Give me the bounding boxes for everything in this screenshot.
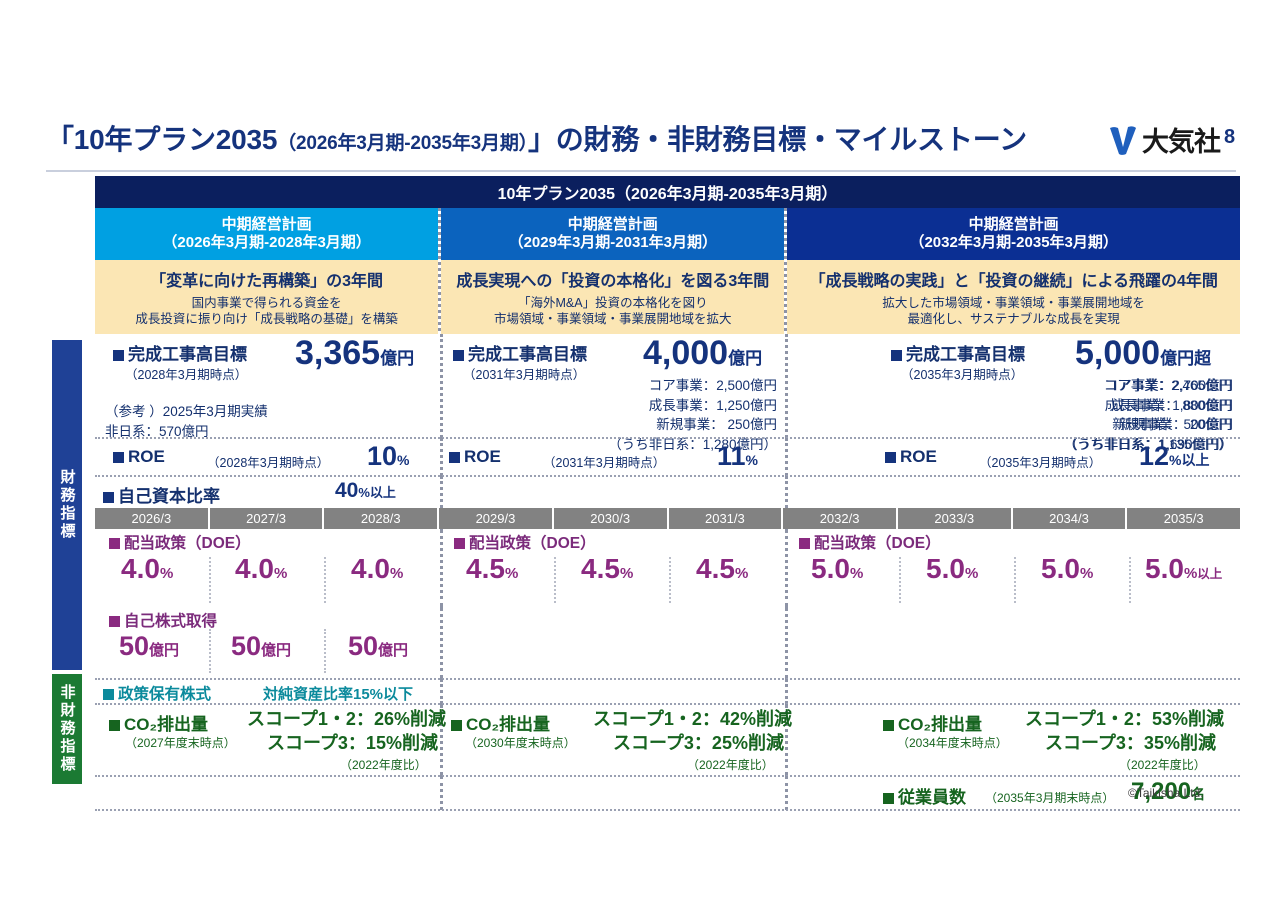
company-name: 大気社	[1142, 120, 1220, 159]
roe-3-value: 12%以上	[1139, 443, 1210, 470]
doe-value-2027: 4.0%	[235, 555, 287, 583]
co2-1-scope12: スコープ1・2：26%削減	[247, 710, 446, 728]
revenue-3-newbiz: 新規事業： 500億円	[975, 415, 1233, 435]
co2-2-baseline: （2022年度比）	[687, 756, 774, 773]
roe-1-as-of: （2028年3月期時点）	[207, 452, 329, 471]
revenue-2-growth: 成長事業：1,250億円	[525, 396, 777, 416]
roe-1-label: ROE	[113, 447, 165, 467]
employees-row: 従業員数 （2035年3月期末時点） 7,200名	[95, 776, 1240, 810]
roadmap-table: 10年プラン2035（2026年3月期-2035年3月期） 中期経営計画 （20…	[95, 176, 1240, 810]
fiscal-year-cell: 2031/3	[669, 508, 784, 529]
roe-3-as-of: （2035年3月期時点）	[979, 452, 1101, 471]
col-divider-2	[785, 476, 788, 508]
roe-3-label: ROE	[885, 447, 937, 467]
equity-ratio-row: 自己資本比率 40%以上	[95, 476, 1240, 508]
year-divider	[1129, 557, 1131, 603]
buyback-row: 自己株式取得 50億円 50億円 50億円	[95, 607, 1240, 679]
doe-row: 配当政策（DOE） 配当政策（DOE） 配当政策（DOE） 4.0% 4.0% …	[95, 529, 1240, 607]
revenue-3-core: コア事業：2,700億円	[975, 376, 1233, 396]
year-divider	[324, 629, 326, 673]
fiscal-year-cell: 2026/3	[95, 508, 210, 529]
bullet-square-icon	[451, 720, 462, 731]
phase-2-header: 中期経営計画 （2029年3月期-2031年3月期）	[441, 208, 784, 260]
phase-3-header: 中期経営計画 （2032年3月期-2035年3月期）	[787, 208, 1240, 260]
phase-1-detail: 国内事業で得られる資金を 成長投資に振り向け「成長戦略の基礎」を構築	[135, 295, 398, 328]
side-label-financial: 財務指標	[52, 340, 82, 670]
doe-value-2034: 5.0%	[1041, 555, 1093, 583]
taikisha-v-mark-icon	[1106, 123, 1140, 157]
phase-1-detail-line2: 成長投資に振り向け「成長戦略の基礎」を構築	[135, 311, 398, 328]
col-divider-1	[440, 679, 443, 704]
revenue-2-label: 完成工事高目標	[453, 340, 587, 365]
doe-value-2030: 4.5%	[581, 555, 633, 583]
bullet-square-icon	[109, 616, 120, 627]
doe-value-2029: 4.5%	[466, 555, 518, 583]
co2-1-label: CO₂排出量	[109, 710, 208, 735]
revenue-target-row: 完成工事高目標 （2028年3月期時点） 3,365億円 コア事業：2,465億…	[95, 334, 1240, 438]
phase-2-plan-label: 中期経営計画	[568, 216, 658, 234]
phase-2-detail: 「海外M&A」投資の本格化を図り 市場領域・事業領域・事業展開地域を拡大	[494, 295, 732, 328]
co2-3-as-of: （2034年度末時点）	[897, 734, 1008, 751]
revenue-3-value: 5,000億円超	[1075, 336, 1211, 370]
employees-as-of: （2035年3月期末時点）	[985, 789, 1114, 806]
co2-1-as-of: （2027年度末時点）	[125, 734, 236, 751]
bullet-square-icon	[113, 452, 124, 463]
fiscal-year-header-row: 2026/3 2027/3 2028/3 2029/3 2030/3 2031/…	[95, 508, 1240, 529]
phase-3-detail-line2: 最適化し、サステナブルな成長を実現	[882, 311, 1145, 328]
co2-1-baseline: （2022年度比）	[340, 756, 427, 773]
policy-shares-row: 政策保有株式 対純資産比率15%以下	[95, 679, 1240, 704]
fiscal-year-cell: 2034/3	[1013, 508, 1128, 529]
revenue-1-value: 3,365億円	[295, 336, 414, 370]
row-divider-employees	[95, 809, 1240, 811]
page-title: 「10年プラン2035（2026年3月期-2035年3月期）」の財務・非財務目標…	[46, 118, 1027, 166]
co2-2-label: CO₂排出量	[451, 710, 550, 735]
co2-2-scope12: スコープ1・2：42%削減	[593, 710, 792, 728]
co2-3-scope12: スコープ1・2：53%削減	[1025, 710, 1224, 728]
col-divider-2	[785, 334, 788, 438]
fiscal-year-cell: 2032/3	[783, 508, 898, 529]
col-divider-2	[785, 438, 788, 476]
phase-1-period: （2026年3月期-2028年3月期）	[162, 234, 370, 252]
phase-1-theme: 「変革に向けた再構築」の3年間	[150, 267, 383, 291]
doe-3-label: 配当政策（DOE）	[799, 531, 941, 553]
phase-2-theme: 成長実現への「投資の本格化」を図る3年間	[456, 267, 769, 291]
roe-2-value: 11%	[717, 443, 758, 470]
side-label-non-financial: 非財務指標	[52, 674, 82, 784]
page-number: 8	[1224, 126, 1235, 149]
bullet-square-icon	[103, 689, 114, 700]
revenue-1-ref-line1: （参考 ）2025年3月期実績	[105, 402, 268, 422]
year-divider	[209, 629, 211, 673]
col-divider-2	[785, 679, 788, 704]
page-title-period: （2026年3月期-2035年3月期）	[277, 133, 528, 154]
co2-row: CO₂排出量 （2027年度末時点） スコープ1・2：26%削減 スコープ3：1…	[95, 704, 1240, 776]
roe-row: ROE （2028年3月期時点） 10% ROE （2031年3月期時点） 11…	[95, 438, 1240, 476]
co2-3-baseline: （2022年度比）	[1119, 756, 1206, 773]
phase-3-plan-label: 中期経営計画	[969, 216, 1059, 234]
company-logo: 大気社	[1106, 120, 1220, 159]
fiscal-year-cell: 2033/3	[898, 508, 1013, 529]
phase-column-3: 中期経営計画 （2032年3月期-2035年3月期） 「成長戦略の実践」と「投資…	[787, 208, 1240, 334]
co2-1-scope3: スコープ3：15%削減	[267, 734, 438, 752]
col-divider-1	[440, 476, 443, 508]
phase-3-detail: 拡大した市場領域・事業領域・事業展開地域を 最適化し、サステナブルな成長を実現	[882, 295, 1145, 328]
co2-3-scope3: スコープ3：35%削減	[1045, 734, 1216, 752]
revenue-3-label: 完成工事高目標	[891, 340, 1025, 365]
col-divider-1	[440, 776, 443, 810]
policy-shares-label: 政策保有株式	[103, 682, 211, 704]
phase-3-theme-box: 「成長戦略の実践」と「投資の継続」による飛躍の4年間 拡大した市場領域・事業領域…	[787, 260, 1240, 334]
phase-column-1: 中期経営計画 （2026年3月期-2028年3月期） 「変革に向けた再構築」の3…	[95, 208, 438, 334]
fiscal-year-cell: 2028/3	[324, 508, 439, 529]
doe-2-label: 配当政策（DOE）	[454, 531, 596, 553]
co2-2-as-of: （2030年度末時点）	[465, 734, 576, 751]
year-divider	[209, 557, 211, 603]
col-divider-1	[440, 529, 443, 607]
buyback-value-2027: 50億円	[231, 633, 291, 660]
doe-value-2035: 5.0%以上	[1145, 555, 1222, 583]
bullet-square-icon	[113, 350, 124, 361]
doe-1-label: 配当政策（DOE）	[109, 531, 251, 553]
equity-ratio-label: 自己資本比率	[103, 482, 220, 507]
fiscal-year-cell: 2035/3	[1127, 508, 1240, 529]
bullet-square-icon	[109, 720, 120, 731]
phase-column-2: 中期経営計画 （2029年3月期-2031年3月期） 成長実現への「投資の本格化…	[441, 208, 784, 334]
col-divider-1	[440, 438, 443, 476]
phase-2-detail-line1: 「海外M&A」投資の本格化を図り	[494, 295, 732, 312]
year-divider	[1014, 557, 1016, 603]
revenue-1-as-of: （2028年3月期時点）	[125, 364, 247, 383]
fiscal-year-cell: 2029/3	[439, 508, 554, 529]
bullet-square-icon	[891, 350, 902, 361]
revenue-2-newbiz: 新規事業： 250億円	[525, 415, 777, 435]
col-divider-1	[440, 607, 443, 679]
revenue-1-label: 完成工事高目標	[113, 340, 247, 365]
year-divider	[669, 557, 671, 603]
policy-shares-value: 対純資産比率15%以下	[263, 683, 413, 704]
co2-3-label: CO₂排出量	[883, 710, 982, 735]
doe-value-2028: 4.0%	[351, 555, 403, 583]
doe-value-2032: 5.0%	[811, 555, 863, 583]
roe-2-as-of: （2031年3月期時点）	[543, 452, 665, 471]
phase-1-header: 中期経営計画 （2026年3月期-2028年3月期）	[95, 208, 438, 260]
roe-2-label: ROE	[449, 447, 501, 467]
employees-label: 従業員数	[883, 783, 966, 808]
revenue-2-value: 4,000億円	[643, 336, 762, 370]
bullet-square-icon	[883, 793, 894, 804]
slide-root: 「10年プラン2035（2026年3月期-2035年3月期）」の財務・非財務目標…	[0, 0, 1280, 905]
fiscal-year-cell: 2027/3	[210, 508, 325, 529]
equity-ratio-value: 40%以上	[335, 480, 396, 501]
fiscal-year-cell: 2030/3	[554, 508, 669, 529]
phase-2-theme-box: 成長実現への「投資の本格化」を図る3年間 「海外M&A」投資の本格化を図り 市場…	[441, 260, 784, 334]
roe-1-value: 10%	[367, 443, 410, 470]
phase-1-plan-label: 中期経営計画	[222, 216, 312, 234]
year-divider	[324, 557, 326, 603]
page-title-main: 「10年プラン2035	[46, 124, 277, 155]
copyright-notice: ©Taikisha Ltd.	[1128, 786, 1204, 800]
phase-1-detail-line1: 国内事業で得られる資金を	[135, 295, 398, 312]
revenue-2-core: コア事業：2,500億円	[525, 376, 777, 396]
bullet-square-icon	[885, 452, 896, 463]
buyback-value-2028: 50億円	[348, 633, 408, 660]
phase-2-detail-line2: 市場領域・事業領域・事業展開地域を拡大	[494, 311, 732, 328]
bullet-square-icon	[449, 452, 460, 463]
doe-value-2033: 5.0%	[926, 555, 978, 583]
doe-value-2031: 4.5%	[696, 555, 748, 583]
col-divider-2	[785, 607, 788, 679]
bullet-square-icon	[453, 350, 464, 361]
page-title-tail: 」の財務・非財務目標・マイルストーン	[528, 124, 1027, 155]
bullet-square-icon	[454, 538, 465, 549]
year-divider	[554, 557, 556, 603]
doe-value-2026: 4.0%	[121, 555, 173, 583]
bullet-square-icon	[799, 538, 810, 549]
slide-header: 「10年プラン2035（2026年3月期-2035年3月期）」の財務・非財務目標…	[46, 118, 1236, 166]
phase-1-theme-box: 「変革に向けた再構築」の3年間 国内事業で得られる資金を 成長投資に振り向け「成…	[95, 260, 438, 334]
co2-2-scope3: スコープ3：25%削減	[613, 734, 784, 752]
year-divider	[899, 557, 901, 603]
phase-2-period: （2029年3月期-2031年3月期）	[509, 234, 717, 252]
revenue-1-reference: （参考 ）2025年3月期実績 非日系：570億円	[105, 402, 268, 441]
bullet-square-icon	[109, 538, 120, 549]
phase-3-theme: 「成長戦略の実践」と「投資の継続」による飛躍の4年間	[809, 267, 1217, 291]
phase-header-row: 中期経営計画 （2026年3月期-2028年3月期） 「変革に向けた再構築」の3…	[95, 208, 1240, 334]
bullet-square-icon	[883, 720, 894, 731]
buyback-value-2026: 50億円	[119, 633, 179, 660]
header-divider	[46, 170, 1236, 172]
plan-band: 10年プラン2035（2026年3月期-2035年3月期）	[95, 176, 1240, 208]
phase-3-period: （2032年3月期-2035年3月期）	[909, 234, 1117, 252]
buyback-label: 自己株式取得	[109, 609, 217, 631]
revenue-3-growth: 成長事業：1,800億円	[975, 396, 1233, 416]
col-divider-2	[785, 776, 788, 810]
col-divider-2	[785, 529, 788, 607]
bullet-square-icon	[103, 492, 114, 503]
phase-3-detail-line1: 拡大した市場領域・事業領域・事業展開地域を	[882, 295, 1145, 312]
col-divider-1	[440, 334, 443, 438]
